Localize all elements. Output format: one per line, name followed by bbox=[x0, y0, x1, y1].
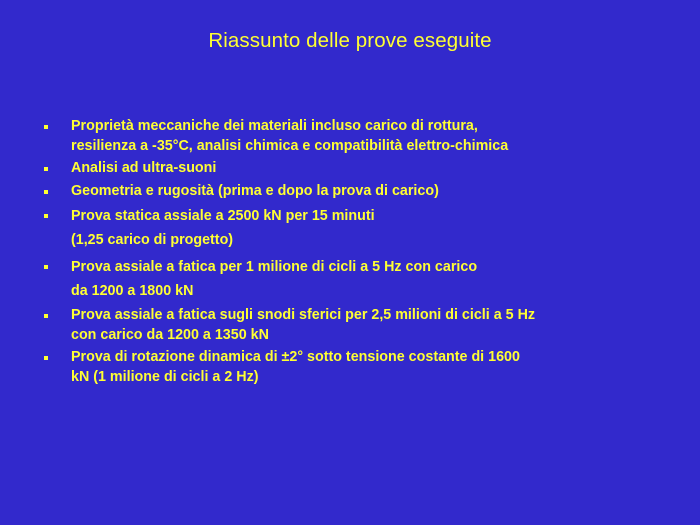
list-item[interactable]: Proprietà meccaniche dei materiali inclu… bbox=[40, 117, 670, 156]
square-bullet-icon bbox=[44, 265, 48, 269]
square-bullet-icon bbox=[44, 167, 48, 171]
list-item[interactable]: Prova assiale a fatica per 1 milione di … bbox=[40, 255, 670, 303]
square-bullet-icon bbox=[44, 314, 48, 318]
square-bullet-icon bbox=[44, 214, 48, 218]
list-item[interactable]: Prova assiale a fatica sugli snodi sferi… bbox=[40, 306, 670, 345]
presentation-slide: Riassunto delle prove eseguite Proprietà… bbox=[0, 0, 700, 525]
list-item-text: Prova assiale a fatica sugli snodi sferi… bbox=[71, 306, 670, 345]
list-item[interactable]: Geometria e rugosità (prima e dopo la pr… bbox=[40, 182, 670, 202]
list-item-text: Prova di rotazione dinamica di ±2° sotto… bbox=[71, 348, 670, 387]
list-item-text: Proprietà meccaniche dei materiali inclu… bbox=[71, 117, 670, 156]
page-title: Riassunto delle prove eseguite bbox=[0, 30, 700, 53]
list-item[interactable]: Prova di rotazione dinamica di ±2° sotto… bbox=[40, 348, 670, 387]
list-item-text: Analisi ad ultra-suoni bbox=[71, 159, 670, 179]
square-bullet-icon bbox=[44, 356, 48, 360]
square-bullet-icon bbox=[44, 190, 48, 194]
bullet-list: Proprietà meccaniche dei materiali inclu… bbox=[40, 117, 670, 390]
square-bullet-icon bbox=[44, 125, 48, 129]
list-item-text: Prova statica assiale a 2500 kN per 15 m… bbox=[71, 204, 670, 252]
list-item[interactable]: Analisi ad ultra-suoni bbox=[40, 159, 670, 179]
list-item-text: Geometria e rugosità (prima e dopo la pr… bbox=[71, 182, 670, 202]
list-item-text: Prova assiale a fatica per 1 milione di … bbox=[71, 255, 670, 303]
list-item[interactable]: Prova statica assiale a 2500 kN per 15 m… bbox=[40, 204, 670, 252]
